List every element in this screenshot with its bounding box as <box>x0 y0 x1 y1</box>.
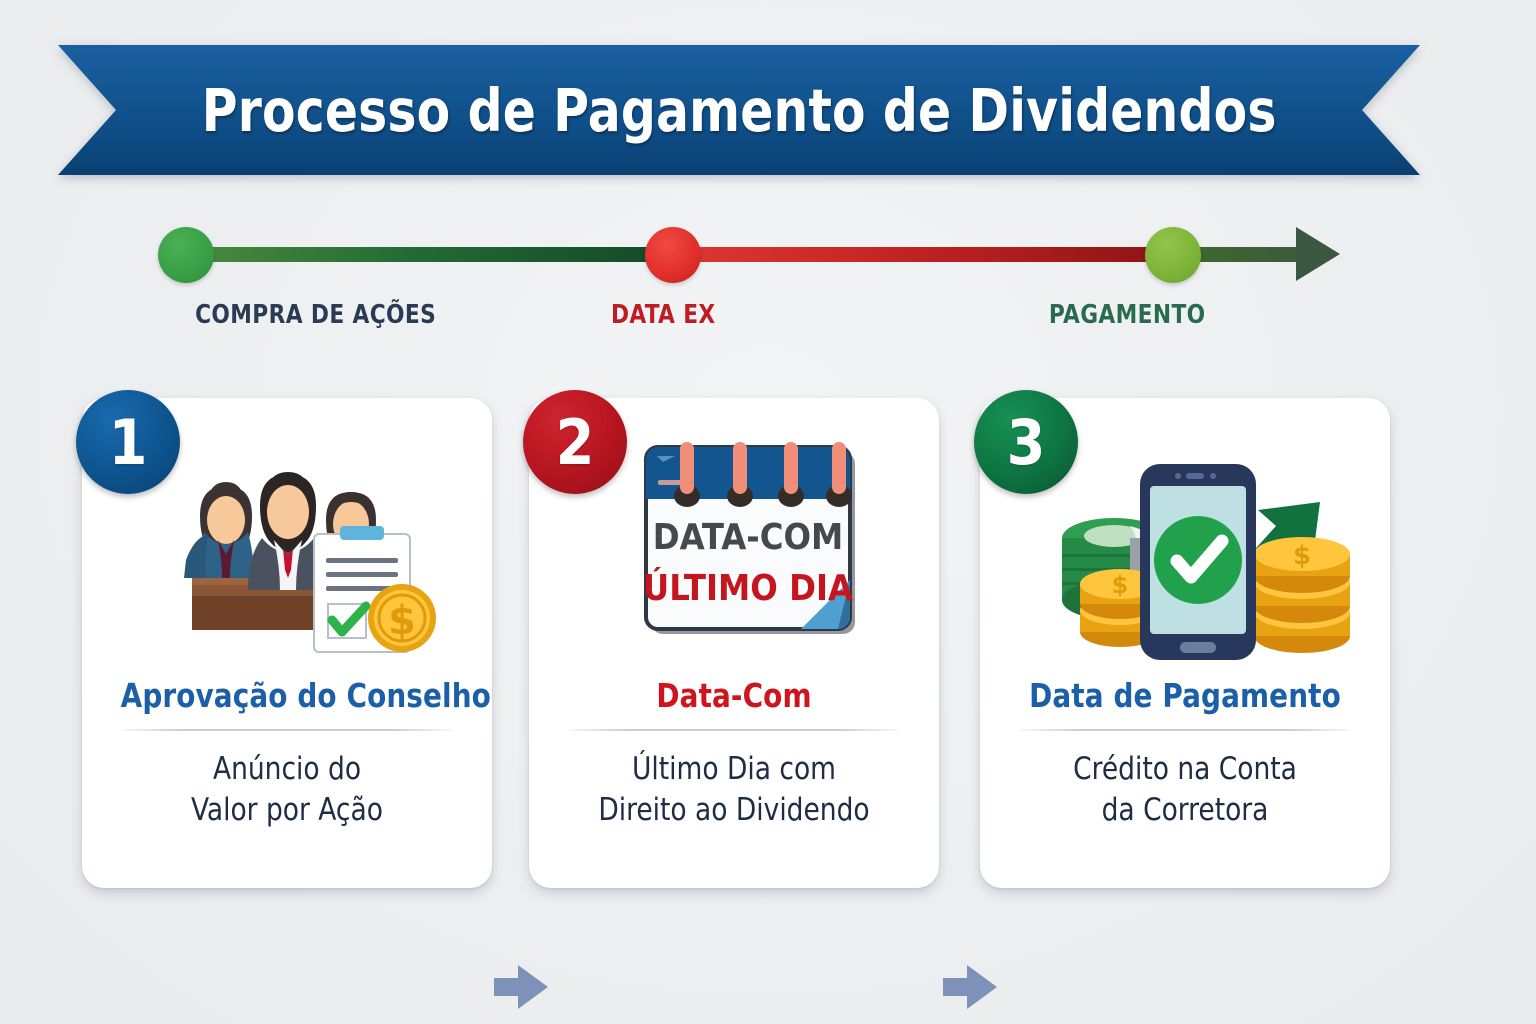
svg-text:$: $ <box>1112 571 1129 599</box>
page-title: Processo de Pagamento de Dividendos <box>202 76 1277 145</box>
step-text-2: Data-Com Último Dia com Direito ao Divid… <box>557 676 911 831</box>
title-banner: Processo de Pagamento de Dividendos <box>58 45 1420 175</box>
step-subtitle-3-line1: Crédito na Conta <box>1017 749 1353 790</box>
step-title-2: Data-Com <box>568 676 901 715</box>
step-title-1: Aprovação do Conselho <box>121 676 454 715</box>
divider-2 <box>569 729 899 731</box>
step-number-badge-1: 1 <box>76 390 180 494</box>
infographic-canvas: Processo de Pagamento de Dividendos COMP… <box>0 0 1536 1024</box>
step-card-3[interactable]: 3 <box>980 398 1390 888</box>
step-subtitle-3-line2: da Corretora <box>1017 790 1353 831</box>
timeline-label-pagamento: PAGAMENTO <box>1049 300 1206 330</box>
step-text-3: Data de Pagamento Crédito na Conta da Co… <box>1008 676 1362 831</box>
timeline-label-data-ex: DATA EX <box>611 300 716 330</box>
step-number-badge-3: 3 <box>974 390 1078 494</box>
step-subtitle-3: Crédito na Conta da Corretora <box>1017 749 1353 831</box>
timeline: COMPRA DE AÇÕES DATA EX PAGAMENTO <box>0 205 1536 355</box>
step-subtitle-1-line1: Anúncio do <box>119 749 455 790</box>
timeline-arrow-icon <box>1296 227 1340 281</box>
timeline-dot-compra[interactable] <box>158 227 214 283</box>
step-subtitle-2-line1: Último Dia com <box>566 749 902 790</box>
timeline-segment-1 <box>190 247 665 262</box>
calendar-line1-text: DATA-COM <box>653 517 844 558</box>
step-card-2[interactable]: 2 <box>529 398 939 888</box>
step-text-1: Aprovação do Conselho Anúncio do Valor p… <box>110 676 464 831</box>
step-subtitle-2-line2: Direito ao Dividendo <box>566 790 902 831</box>
calendar-line2-text: ÚLTIMO DIA <box>643 567 853 609</box>
step-subtitle-2: Último Dia com Direito ao Dividendo <box>566 749 902 831</box>
svg-text:$: $ <box>1293 541 1311 571</box>
timeline-segment-2 <box>655 247 1175 262</box>
timeline-label-compra: COMPRA DE AÇÕES <box>195 300 436 330</box>
step-title-3: Data de Pagamento <box>1019 676 1352 715</box>
steps-row: 1 <box>0 390 1536 910</box>
timeline-dot-pagamento[interactable] <box>1145 227 1201 283</box>
banner-ribbon: Processo de Pagamento de Dividendos <box>58 45 1420 175</box>
connector-arrow-1-icon <box>492 958 550 1016</box>
step-subtitle-1-line2: Valor por Ação <box>119 790 455 831</box>
timeline-dot-data-ex[interactable] <box>645 227 701 283</box>
step-card-1[interactable]: 1 <box>82 398 492 888</box>
connector-arrow-2-icon <box>941 958 999 1016</box>
svg-text:$: $ <box>388 598 416 644</box>
step-number-badge-2: 2 <box>523 390 627 494</box>
step-subtitle-1: Anúncio do Valor por Ação <box>119 749 455 831</box>
divider-3 <box>1020 729 1350 731</box>
divider-1 <box>122 729 452 731</box>
